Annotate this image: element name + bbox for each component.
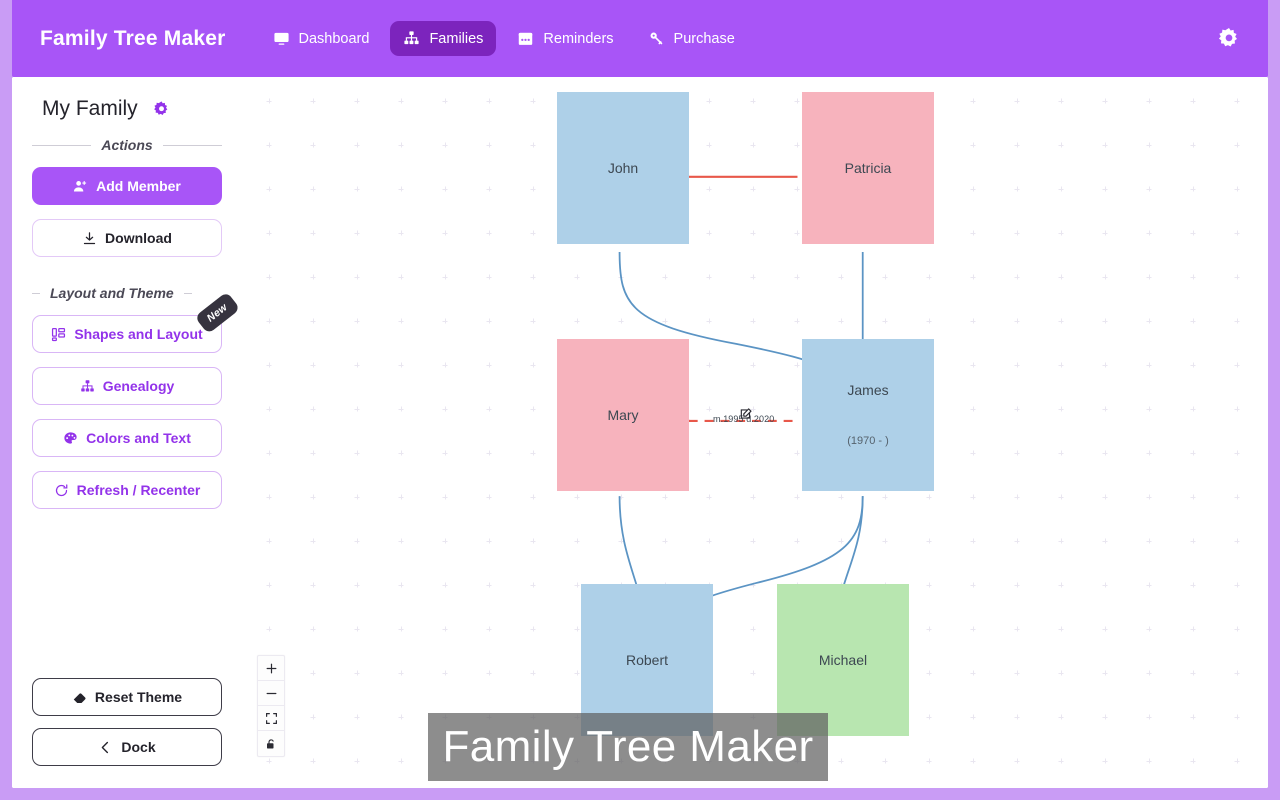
zoom-in-button[interactable] — [258, 656, 284, 681]
node-name: Michael — [819, 653, 867, 667]
colors-and-text-label: Colors and Text — [86, 430, 191, 446]
tree-canvas[interactable]: John Patricia Mary James (1970 - ) Rober… — [242, 77, 1268, 788]
node-name: Mary — [607, 408, 638, 422]
node-name: Robert — [626, 653, 668, 667]
refresh-recenter-button[interactable]: Refresh / Recenter — [32, 471, 222, 509]
sidebar-bottom-actions: Reset Theme Dock — [32, 678, 222, 788]
sidebar: My Family Actions — [12, 77, 242, 788]
node-name: Patricia — [845, 161, 892, 175]
tree-node-james[interactable]: James (1970 - ) — [802, 339, 934, 491]
settings-gear-icon[interactable] — [1216, 26, 1242, 52]
tree-node-patricia[interactable]: Patricia — [802, 92, 934, 244]
node-name: James — [847, 383, 888, 397]
nav-label-reminders: Reminders — [543, 31, 613, 47]
chevron-left-icon — [98, 740, 113, 755]
key-icon — [648, 30, 665, 47]
zoom-out-button[interactable] — [258, 681, 284, 706]
nav-item-reminders[interactable]: Reminders — [504, 21, 626, 56]
shapes-and-layout-button[interactable]: Shapes and Layout New — [32, 315, 222, 353]
eraser-icon — [72, 690, 87, 705]
sidebar-gear-icon[interactable] — [152, 100, 171, 119]
node-lifespan: (1970 - ) — [847, 435, 889, 447]
zoom-controls — [257, 655, 285, 757]
app-brand: Family Tree Maker — [40, 27, 226, 51]
fit-screen-button[interactable] — [258, 706, 284, 731]
lock-button[interactable] — [258, 731, 284, 756]
download-button[interactable]: Download — [32, 219, 222, 257]
watermark: Family Tree Maker — [428, 713, 828, 781]
palette-icon — [63, 431, 78, 446]
shapes-and-layout-label: Shapes and Layout — [74, 326, 202, 342]
page-root: Family Tree Maker Dashboard — [0, 0, 1280, 800]
app-body: My Family Actions — [12, 77, 1268, 788]
user-plus-icon — [73, 179, 88, 194]
nav-label-families: Families — [429, 31, 483, 47]
colors-and-text-button[interactable]: Colors and Text — [32, 419, 222, 457]
nav-label-dashboard: Dashboard — [299, 31, 370, 47]
node-name: John — [608, 161, 638, 175]
shapes-icon — [51, 327, 66, 342]
tree-node-john[interactable]: John — [557, 92, 689, 244]
family-tree-icon — [403, 30, 420, 47]
download-label: Download — [105, 230, 172, 246]
reset-theme-button[interactable]: Reset Theme — [32, 678, 222, 716]
add-member-button[interactable]: Add Member — [32, 167, 222, 205]
download-icon — [82, 231, 97, 246]
nav-item-families[interactable]: Families — [390, 21, 496, 56]
dock-label: Dock — [121, 739, 155, 755]
tree-edges — [242, 77, 1268, 780]
section-heading-actions: Actions — [32, 137, 222, 153]
sidebar-title-row: My Family — [32, 89, 222, 123]
calendar-icon — [517, 30, 534, 47]
monitor-icon — [273, 30, 290, 47]
refresh-recenter-label: Refresh / Recenter — [77, 482, 201, 498]
nav-item-dashboard[interactable]: Dashboard — [260, 21, 383, 56]
dock-button[interactable]: Dock — [32, 728, 222, 766]
tree-node-mary[interactable]: Mary — [557, 339, 689, 491]
edit-pencil-icon[interactable] — [739, 407, 753, 421]
family-tree-icon — [80, 379, 95, 394]
section-heading-layout-theme: Layout and Theme — [32, 285, 222, 301]
sidebar-title: My Family — [42, 97, 138, 121]
refresh-icon — [54, 483, 69, 498]
add-member-label: Add Member — [96, 178, 181, 194]
app-header: Family Tree Maker Dashboard — [12, 0, 1268, 77]
nav-item-purchase[interactable]: Purchase — [635, 21, 748, 56]
reset-theme-label: Reset Theme — [95, 689, 182, 705]
primary-nav: Dashboard Families — [260, 21, 748, 56]
genealogy-label: Genealogy — [103, 378, 175, 394]
nav-label-purchase: Purchase — [674, 31, 735, 47]
genealogy-button[interactable]: Genealogy — [32, 367, 222, 405]
